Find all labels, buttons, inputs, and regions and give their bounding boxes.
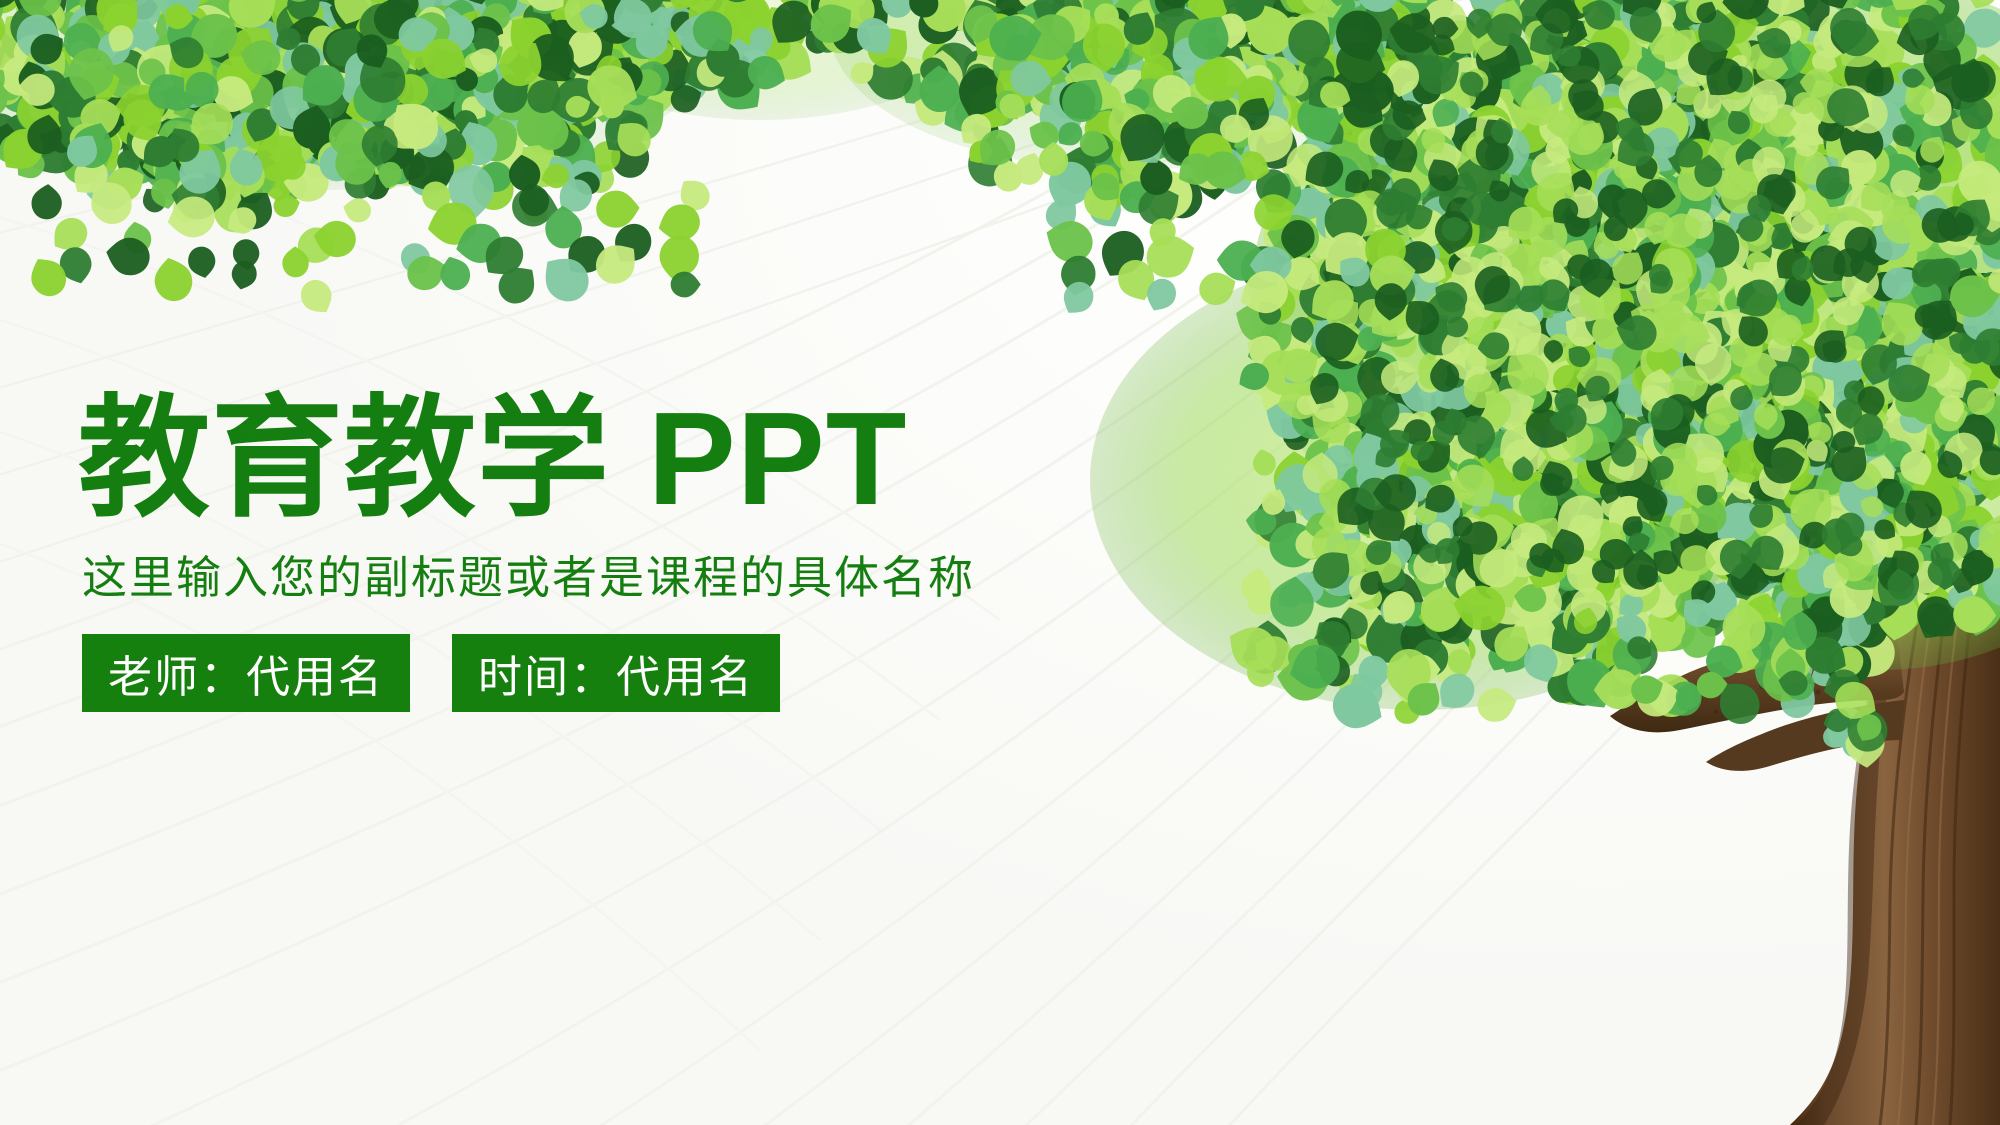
page-subtitle: 这里输入您的副标题或者是课程的具体名称 bbox=[82, 541, 1198, 606]
teacher-badge[interactable]: 老师：代用名 bbox=[82, 634, 410, 712]
presentation-slide: 教育教学 PPT 这里输入您的副标题或者是课程的具体名称 老师：代用名 时间：代… bbox=[0, 0, 2000, 1125]
meta-badge-row: 老师：代用名 时间：代用名 bbox=[82, 634, 1198, 712]
page-title: 教育教学 PPT bbox=[78, 392, 1198, 527]
date-badge[interactable]: 时间：代用名 bbox=[452, 634, 780, 712]
title-block: 教育教学 PPT 这里输入您的副标题或者是课程的具体名称 老师：代用名 时间：代… bbox=[78, 392, 1198, 712]
